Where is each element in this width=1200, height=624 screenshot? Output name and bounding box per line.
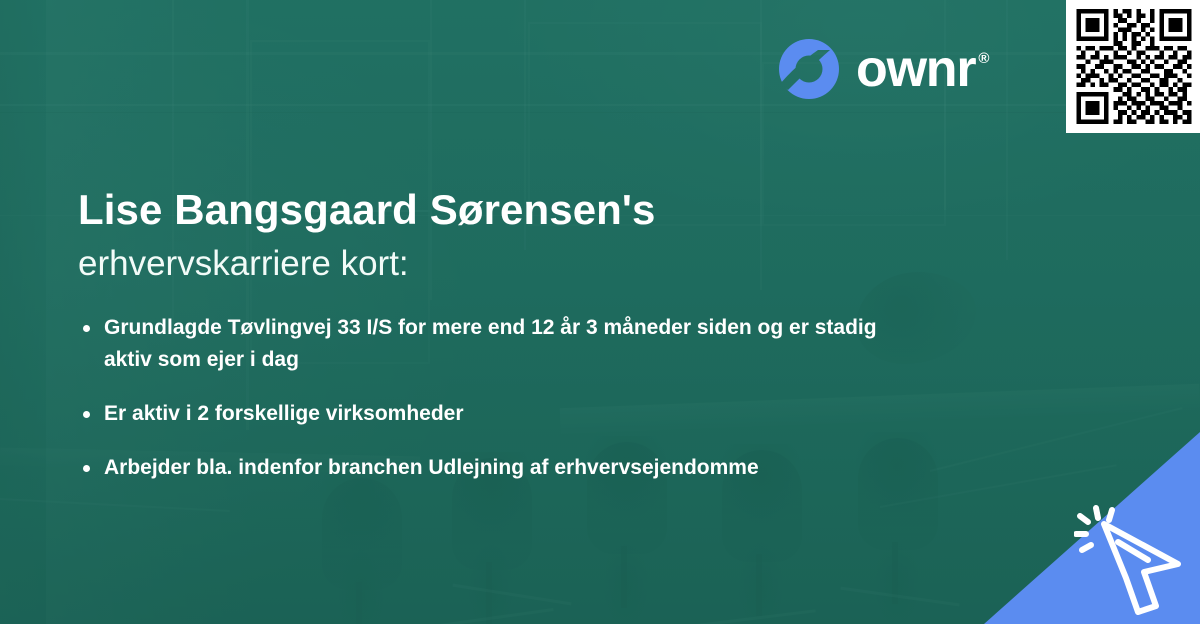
registered-trademark-icon: ®	[978, 50, 989, 67]
page-subtitle: erhvervskarriere kort:	[78, 244, 409, 284]
career-fact-list: Grundlagde Tøvlingvej 33 I/S for mere en…	[78, 312, 978, 506]
cursor-click-icon	[1074, 498, 1194, 618]
ownr-wordmark: ownr	[856, 43, 975, 95]
list-item: Grundlagde Tøvlingvej 33 I/S for mere en…	[78, 312, 884, 376]
click-cursor-badge	[984, 432, 1200, 624]
ownr-logo[interactable]: ownr ®	[778, 36, 989, 102]
card-content: Lise Bangsgaard Sørensen's erhvervskarri…	[0, 0, 1200, 624]
list-item: Er aktiv i 2 forskellige virksomheder	[78, 398, 978, 430]
page-title: Lise Bangsgaard Sørensen's	[78, 186, 655, 234]
list-item: Arbejder bla. indenfor branchen Udlejnin…	[78, 452, 978, 484]
list-item-label: Arbejder bla. indenfor branchen Udlejnin…	[104, 456, 759, 479]
bullet-dot-icon	[83, 465, 90, 472]
bullet-dot-icon	[83, 325, 90, 332]
list-item-label: Grundlagde Tøvlingvej 33 I/S for mere en…	[104, 316, 877, 371]
promo-card: Lise Bangsgaard Sørensen's erhvervskarri…	[0, 0, 1200, 624]
bullet-dot-icon	[83, 411, 90, 418]
qr-code	[1076, 9, 1192, 124]
qr-code-panel[interactable]	[1066, 0, 1200, 133]
ownr-circle-swirl-icon	[778, 38, 840, 100]
list-item-label: Er aktiv i 2 forskellige virksomheder	[104, 402, 464, 425]
